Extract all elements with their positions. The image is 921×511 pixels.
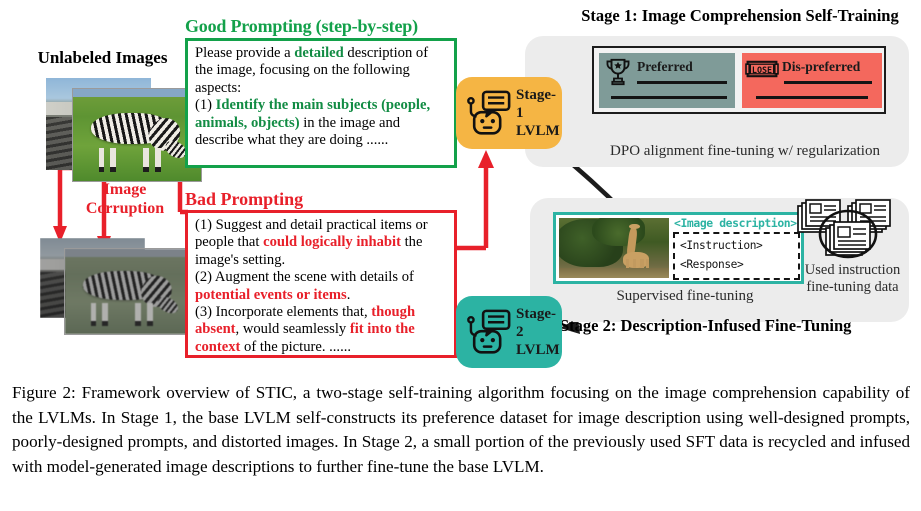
stage1-title: Stage 1: Image Comprehension Self-Traini… <box>565 6 915 26</box>
bad-prompting-heading: Bad Prompting <box>185 189 435 210</box>
dispreferred-label: Dis-preferred <box>782 59 860 75</box>
zebra-photo <box>73 89 201 181</box>
bad-prompt-em2: potential events or items <box>195 287 347 303</box>
stage2-bot-line2: LVLM <box>516 341 562 359</box>
good-prompt-em1: detailed <box>294 45 343 61</box>
stage2-bot-line1: Stage-2 <box>516 305 562 341</box>
corrupted-image-zebra <box>64 248 194 335</box>
stage2-lvlm-bot[interactable]: Stage-2 LVLM <box>456 296 562 368</box>
used-data-line-1: Used instruction <box>790 262 915 279</box>
lose-badge-icon: LOSE <box>746 59 778 79</box>
stage1-bot-line1: Stage-1 <box>516 86 562 122</box>
good-prompting-heading: Good Prompting (step-by-step) <box>185 16 475 37</box>
supervised-finetuning-caption: Supervised fine-tuning <box>560 288 810 305</box>
zebra-photo-corrupted <box>65 249 193 334</box>
bad-prompt-t7: of the picture. ...... <box>240 339 351 355</box>
good-prompt-t1: Please provide a <box>195 45 294 61</box>
bad-prompt-box: (1) Suggest and detail practical items o… <box>185 210 457 358</box>
unlabeled-images-label: Unlabeled Images <box>20 48 185 68</box>
bad-prompt-t6: , would seamlessly <box>236 321 350 337</box>
red-arrowhead-to-stage1 <box>478 150 494 168</box>
bad-prompt-t3: (2) Augment the scene with details of <box>195 269 414 285</box>
preferred-card: Preferred <box>599 53 735 108</box>
giraffe-photo <box>559 218 669 278</box>
robot-icon <box>462 306 514 358</box>
robot-icon <box>462 87 514 139</box>
response-tag: <Response> <box>680 258 743 271</box>
giraffe-image <box>559 218 669 278</box>
trophy-icon <box>605 57 631 87</box>
stage1-lvlm-bot[interactable]: Stage-1 LVLM <box>456 77 562 149</box>
figure-caption: Figure 2: Framework overview of STIC, a … <box>12 381 910 479</box>
instruction-data-stack-icon <box>796 200 914 262</box>
image-corruption-line-2: Corruption <box>60 199 190 218</box>
image-corruption-label: Image Corruption <box>60 180 190 218</box>
preference-pair-box: Preferred LOSE Dis-preferred <box>592 46 886 114</box>
image-corruption-line-1: Image <box>60 180 190 199</box>
unlabeled-image-zebra <box>72 88 202 182</box>
used-instruction-data-caption: Used instruction fine-tuning data <box>790 262 915 296</box>
stage2-bot-label: Stage-2 LVLM <box>516 305 562 359</box>
stage1-bot-label: Stage-1 LVLM <box>516 86 562 140</box>
stage1-bot-line2: LVLM <box>516 122 562 140</box>
good-prompt-t3: (1) <box>195 97 216 113</box>
bad-prompt-t4: . <box>347 287 351 303</box>
figure-framework-overview: Unlabeled Images Image Corruption Good P… <box>0 0 921 511</box>
sft-sample-box: <Image description> <Instruction> <Respo… <box>553 212 804 284</box>
used-data-line-2: fine-tuning data <box>790 279 915 296</box>
bad-prompt-t5: (3) Incorporate elements that, <box>195 304 371 320</box>
instruction-tag: <Instruction> <box>680 239 762 252</box>
preferred-label: Preferred <box>637 59 693 75</box>
dispreferred-card: LOSE Dis-preferred <box>742 53 882 108</box>
bad-prompt-em1: could logically inhabit <box>263 234 401 250</box>
good-prompt-box: Please provide a detailed description of… <box>185 38 457 168</box>
stage2-title: Stage 2: Description-Infused Fine-Tuning <box>560 316 910 336</box>
image-description-tag: <Image description> <box>674 216 806 230</box>
dpo-caption: DPO alignment fine-tuning w/ regularizat… <box>580 143 910 160</box>
svg-text:LOSE: LOSE <box>752 65 772 75</box>
